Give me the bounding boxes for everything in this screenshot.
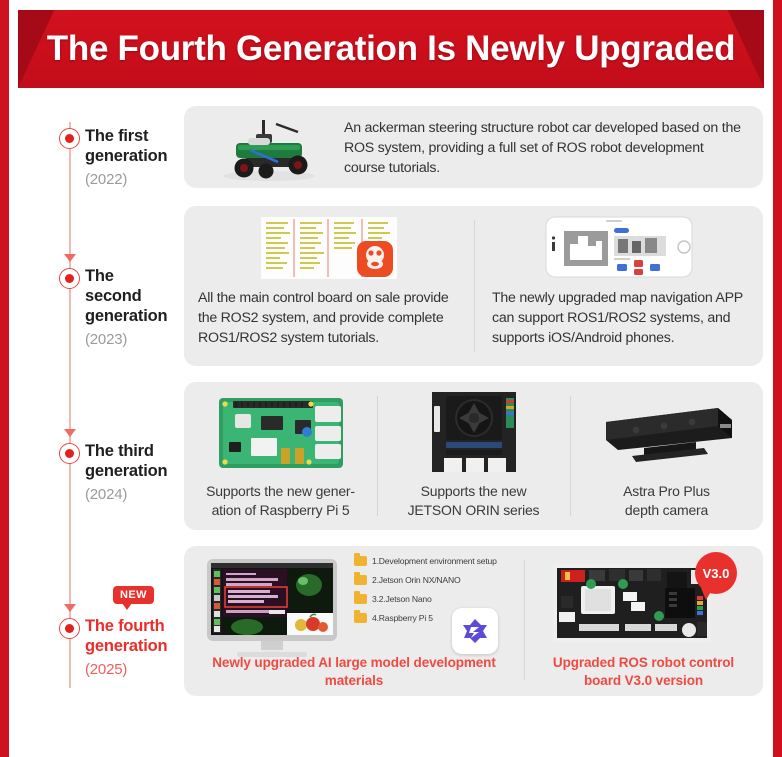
version-badge: V3.0 <box>695 552 737 594</box>
generation-2-text-1: All the main control board on sale provi… <box>184 282 474 348</box>
generation-name-3: The third generation <box>85 441 174 481</box>
timeline-arrow-2 <box>64 254 76 262</box>
folder-item[interactable]: 2.Jetson Orin NX/NANO <box>354 575 519 585</box>
generation-year-1: (2022) <box>85 171 174 188</box>
folder-label: 3.2.Jetson Nano <box>372 594 432 604</box>
generation-name-4: The fourth generation <box>85 616 174 656</box>
caption-line2: depth camera <box>625 502 708 518</box>
map-navigation-app-phone-image <box>474 206 763 282</box>
header-banner: The Fourth Generation Is Newly Upgraded <box>18 10 764 88</box>
timeline-marker-2 <box>59 268 80 289</box>
caption-line2: ation of Raspberry Pi 5 <box>212 502 350 518</box>
astra-pro-plus-depth-camera-image <box>570 382 763 482</box>
generation-year-2: (2023) <box>85 331 174 348</box>
generation-4-column-1: 1.Development environment setup 2.Jetson… <box>184 546 524 696</box>
caption-line1: Supports the new gener- <box>206 483 355 499</box>
generation-name-line1: The third <box>85 442 154 460</box>
generation-year-3: (2024) <box>85 486 174 503</box>
folder-icon <box>354 594 367 604</box>
infographic-page: The Fourth Generation Is Newly Upgraded … <box>0 0 782 757</box>
generation-label-4: NEW The fourth generation (2025) <box>9 616 174 678</box>
generation-label-2: The second generation (2023) <box>9 266 174 348</box>
generation-3-caption-3: Astra Pro Plus depth camera <box>570 482 763 520</box>
generation-4-column-2: V3.0 Upgraded ROS robot control board V3… <box>524 546 763 696</box>
header-area: The Fourth Generation Is Newly Upgraded <box>9 0 773 96</box>
timeline-arrow-3 <box>64 429 76 437</box>
folder-label: 4.Raspberry Pi 5 <box>372 613 433 623</box>
generation-3-column-3: Astra Pro Plus depth camera <box>570 382 763 530</box>
generation-name-2: The second generation <box>85 266 174 326</box>
caption-line2: JETSON ORIN series <box>408 502 540 518</box>
ros-robot-logo-icon <box>452 608 498 654</box>
generation-2-column-1: All the main control board on sale provi… <box>184 206 474 366</box>
caption-line2: board V3.0 version <box>584 673 703 688</box>
timeline-marker-4 <box>59 618 80 639</box>
raspberry-pi-5-board-image <box>184 382 377 482</box>
timeline-marker-3 <box>59 443 80 464</box>
generation-card-3: Supports the new gener- ation of Raspber… <box>184 382 763 530</box>
generation-2-text-2: The newly upgraded map navigation APP ca… <box>474 282 763 348</box>
timeline-arrow-4 <box>64 604 76 612</box>
generation-card-2: All the main control board on sale provi… <box>184 206 763 366</box>
generation-label-1: The first generation (2022) <box>9 118 174 188</box>
timeline-marker-1 <box>59 128 80 149</box>
folder-icon <box>354 556 367 566</box>
caption-line1: Astra Pro Plus <box>623 483 710 499</box>
generation-card-4: 1.Development environment setup 2.Jetson… <box>184 546 763 696</box>
generation-name-line1: The fourth <box>85 617 165 635</box>
generation-3-caption-2: Supports the new JETSON ORIN series <box>377 482 570 520</box>
folder-label: 2.Jetson Orin NX/NANO <box>372 575 460 585</box>
generation-card-1: An ackerman steering structure robot car… <box>184 106 763 188</box>
generation-name-line2: generation <box>85 307 167 325</box>
ai-large-model-desktop-screen-image <box>194 554 349 662</box>
folder-item[interactable]: 1.Development environment setup <box>354 556 519 566</box>
folder-label: 1.Development environment setup <box>372 556 497 566</box>
folder-item[interactable]: 3.2.Jetson Nano <box>354 594 519 604</box>
caption-line1: Upgraded ROS robot control <box>553 655 734 670</box>
new-badge: NEW <box>113 586 154 604</box>
generation-1-description: An ackerman steering structure robot car… <box>344 118 744 178</box>
generation-name-line1: The second <box>85 267 142 305</box>
generation-name-1: The first generation <box>85 126 174 166</box>
ros-tutorial-documents-image <box>184 206 474 282</box>
generation-name-line2: generation <box>85 637 167 655</box>
caption-line1: Supports the new <box>421 483 527 499</box>
generation-label-3: The third generation (2024) <box>9 441 174 503</box>
generation-year-4: (2025) <box>85 661 174 678</box>
timeline-body: The first generation (2022) <box>9 96 773 757</box>
ackerman-robot-car-image <box>204 108 334 186</box>
generation-4-caption-1: Newly upgraded AI large model developmen… <box>190 654 518 690</box>
generation-name-line2: generation <box>85 147 167 165</box>
generation-3-column-2: Supports the new JETSON ORIN series <box>377 382 570 530</box>
generation-3-caption-1: Supports the new gener- ation of Raspber… <box>184 482 377 520</box>
generation-3-column-1: Supports the new gener- ation of Raspber… <box>184 382 377 530</box>
generation-4-caption-2: Upgraded ROS robot control board V3.0 ve… <box>534 654 753 690</box>
generation-name-line2: generation <box>85 462 167 480</box>
generation-name-line1: The first <box>85 127 148 145</box>
folder-icon <box>354 613 367 623</box>
page-title: The Fourth Generation Is Newly Upgraded <box>18 10 764 88</box>
folder-icon <box>354 575 367 585</box>
jetson-orin-module-image <box>377 382 570 482</box>
generation-2-column-2: The newly upgraded map navigation APP ca… <box>474 206 763 366</box>
